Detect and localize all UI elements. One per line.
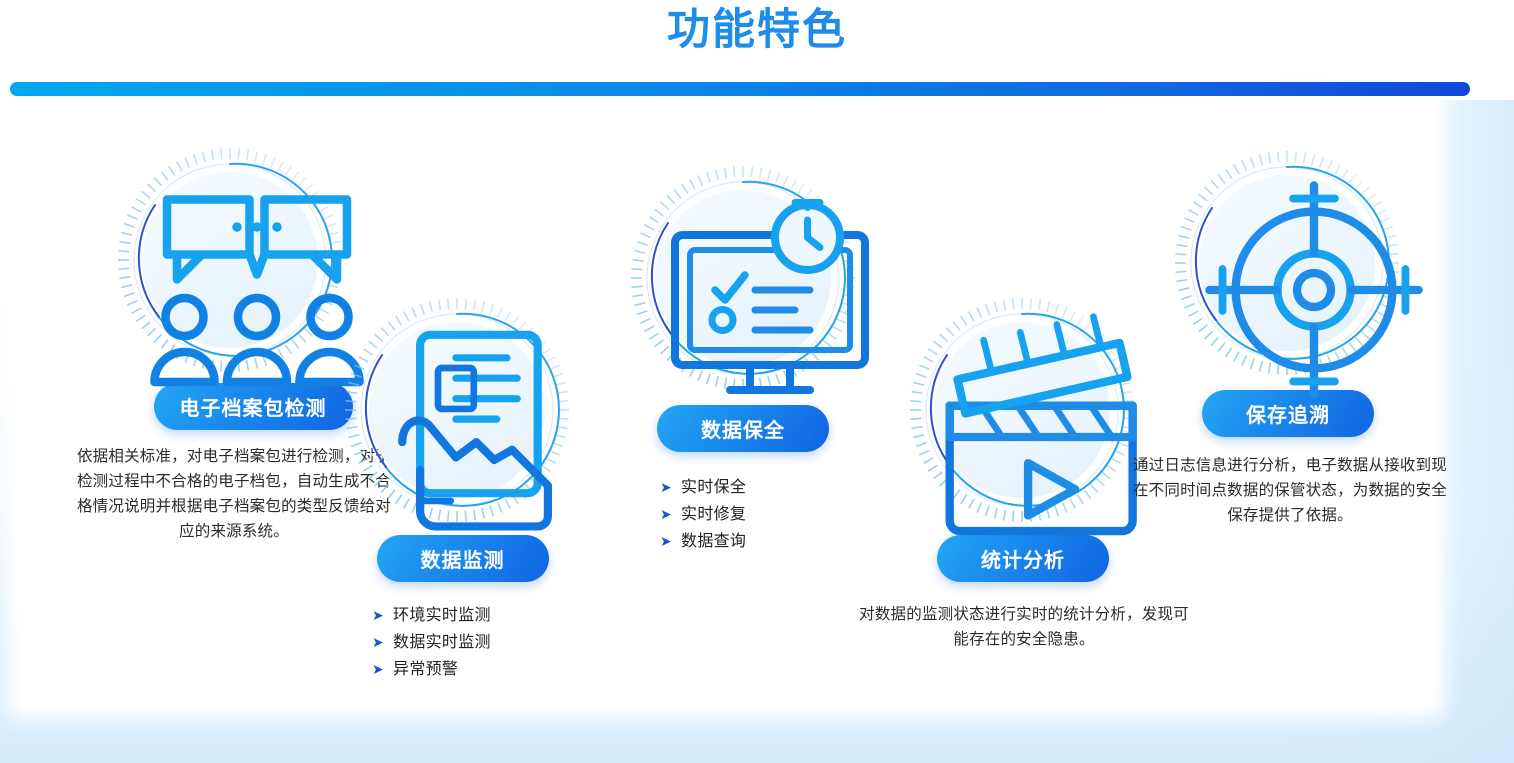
list-item: ➤ 异常预警: [372, 656, 585, 683]
list-item: ➤ 实时修复: [660, 501, 858, 528]
feature-card-data-preservation[interactable]: 数据保全 ➤ 实时保全 ➤ 实时修复 ➤ 数据查询: [628, 163, 858, 555]
list-item-label: 数据查询: [681, 529, 746, 555]
arrow-bullet-icon: ➤: [660, 474, 672, 500]
list-item-label: 环境实时监测: [393, 603, 491, 629]
icon-disc: [628, 163, 858, 393]
feature-card-statistical-analysis[interactable]: 统计分析 对数据的监测状态进行实时的统计分析，发现可能存在的安全隐患。: [907, 295, 1139, 652]
people-chat-bubble-icon: [142, 172, 318, 348]
list-item-label: 数据实时监测: [393, 630, 491, 656]
icon-disc-wrapper: [907, 295, 1139, 525]
icon-disc: [342, 295, 572, 525]
feature-card-preservation-traceability[interactable]: 保存追溯 通过日志信息进行分析，电子数据从接收到现在不同时间点数据的保管状态，为…: [1172, 148, 1404, 528]
icon-disc: [1172, 148, 1402, 378]
feature-card-data-monitoring[interactable]: 数据监测 ➤ 环境实时监测 ➤ 数据实时监测 ➤ 异常预警: [340, 295, 585, 683]
list-item: ➤ 实时保全: [660, 474, 858, 501]
arrow-bullet-icon: ➤: [372, 629, 384, 655]
list-item: ➤ 环境实时监测: [372, 602, 585, 629]
icon-disc: [907, 295, 1137, 525]
arrow-bullet-icon: ➤: [660, 528, 672, 554]
card-description: 通过日志信息进行分析，电子数据从接收到现在不同时间点数据的保管状态，为数据的安全…: [1130, 453, 1450, 528]
list-item-label: 异常预警: [393, 657, 458, 683]
list-item-label: 实时保全: [681, 475, 746, 501]
icon-disc: [115, 145, 345, 375]
arrow-bullet-icon: ➤: [372, 602, 384, 628]
list-item: ➤ 数据查询: [660, 528, 858, 555]
clapperboard-play-icon: [934, 322, 1110, 498]
header-divider-bar: [10, 82, 1470, 96]
hand-tablet-document-icon: [369, 322, 545, 498]
list-item: ➤ 数据实时监测: [372, 629, 585, 656]
arrow-bullet-icon: ➤: [372, 656, 384, 682]
card-description: 对数据的监测状态进行实时的统计分析，发现可能存在的安全隐患。: [859, 602, 1189, 652]
icon-disc-wrapper: [342, 295, 585, 525]
card-bullet-list: ➤ 实时保全 ➤ 实时修复 ➤ 数据查询: [660, 474, 858, 555]
list-item-label: 实时修复: [681, 502, 746, 528]
arrow-bullet-icon: ➤: [660, 501, 672, 527]
feature-highlights-page: 功能特色: [0, 0, 1514, 763]
icon-disc-wrapper: [628, 163, 858, 393]
card-bullet-list: ➤ 环境实时监测 ➤ 数据实时监测 ➤ 异常预警: [372, 602, 585, 683]
page-title: 功能特色: [0, 6, 1514, 55]
crosshair-target-icon: [1199, 175, 1375, 351]
icon-disc-wrapper: [1172, 148, 1404, 378]
monitor-stopwatch-icon: [655, 190, 831, 366]
